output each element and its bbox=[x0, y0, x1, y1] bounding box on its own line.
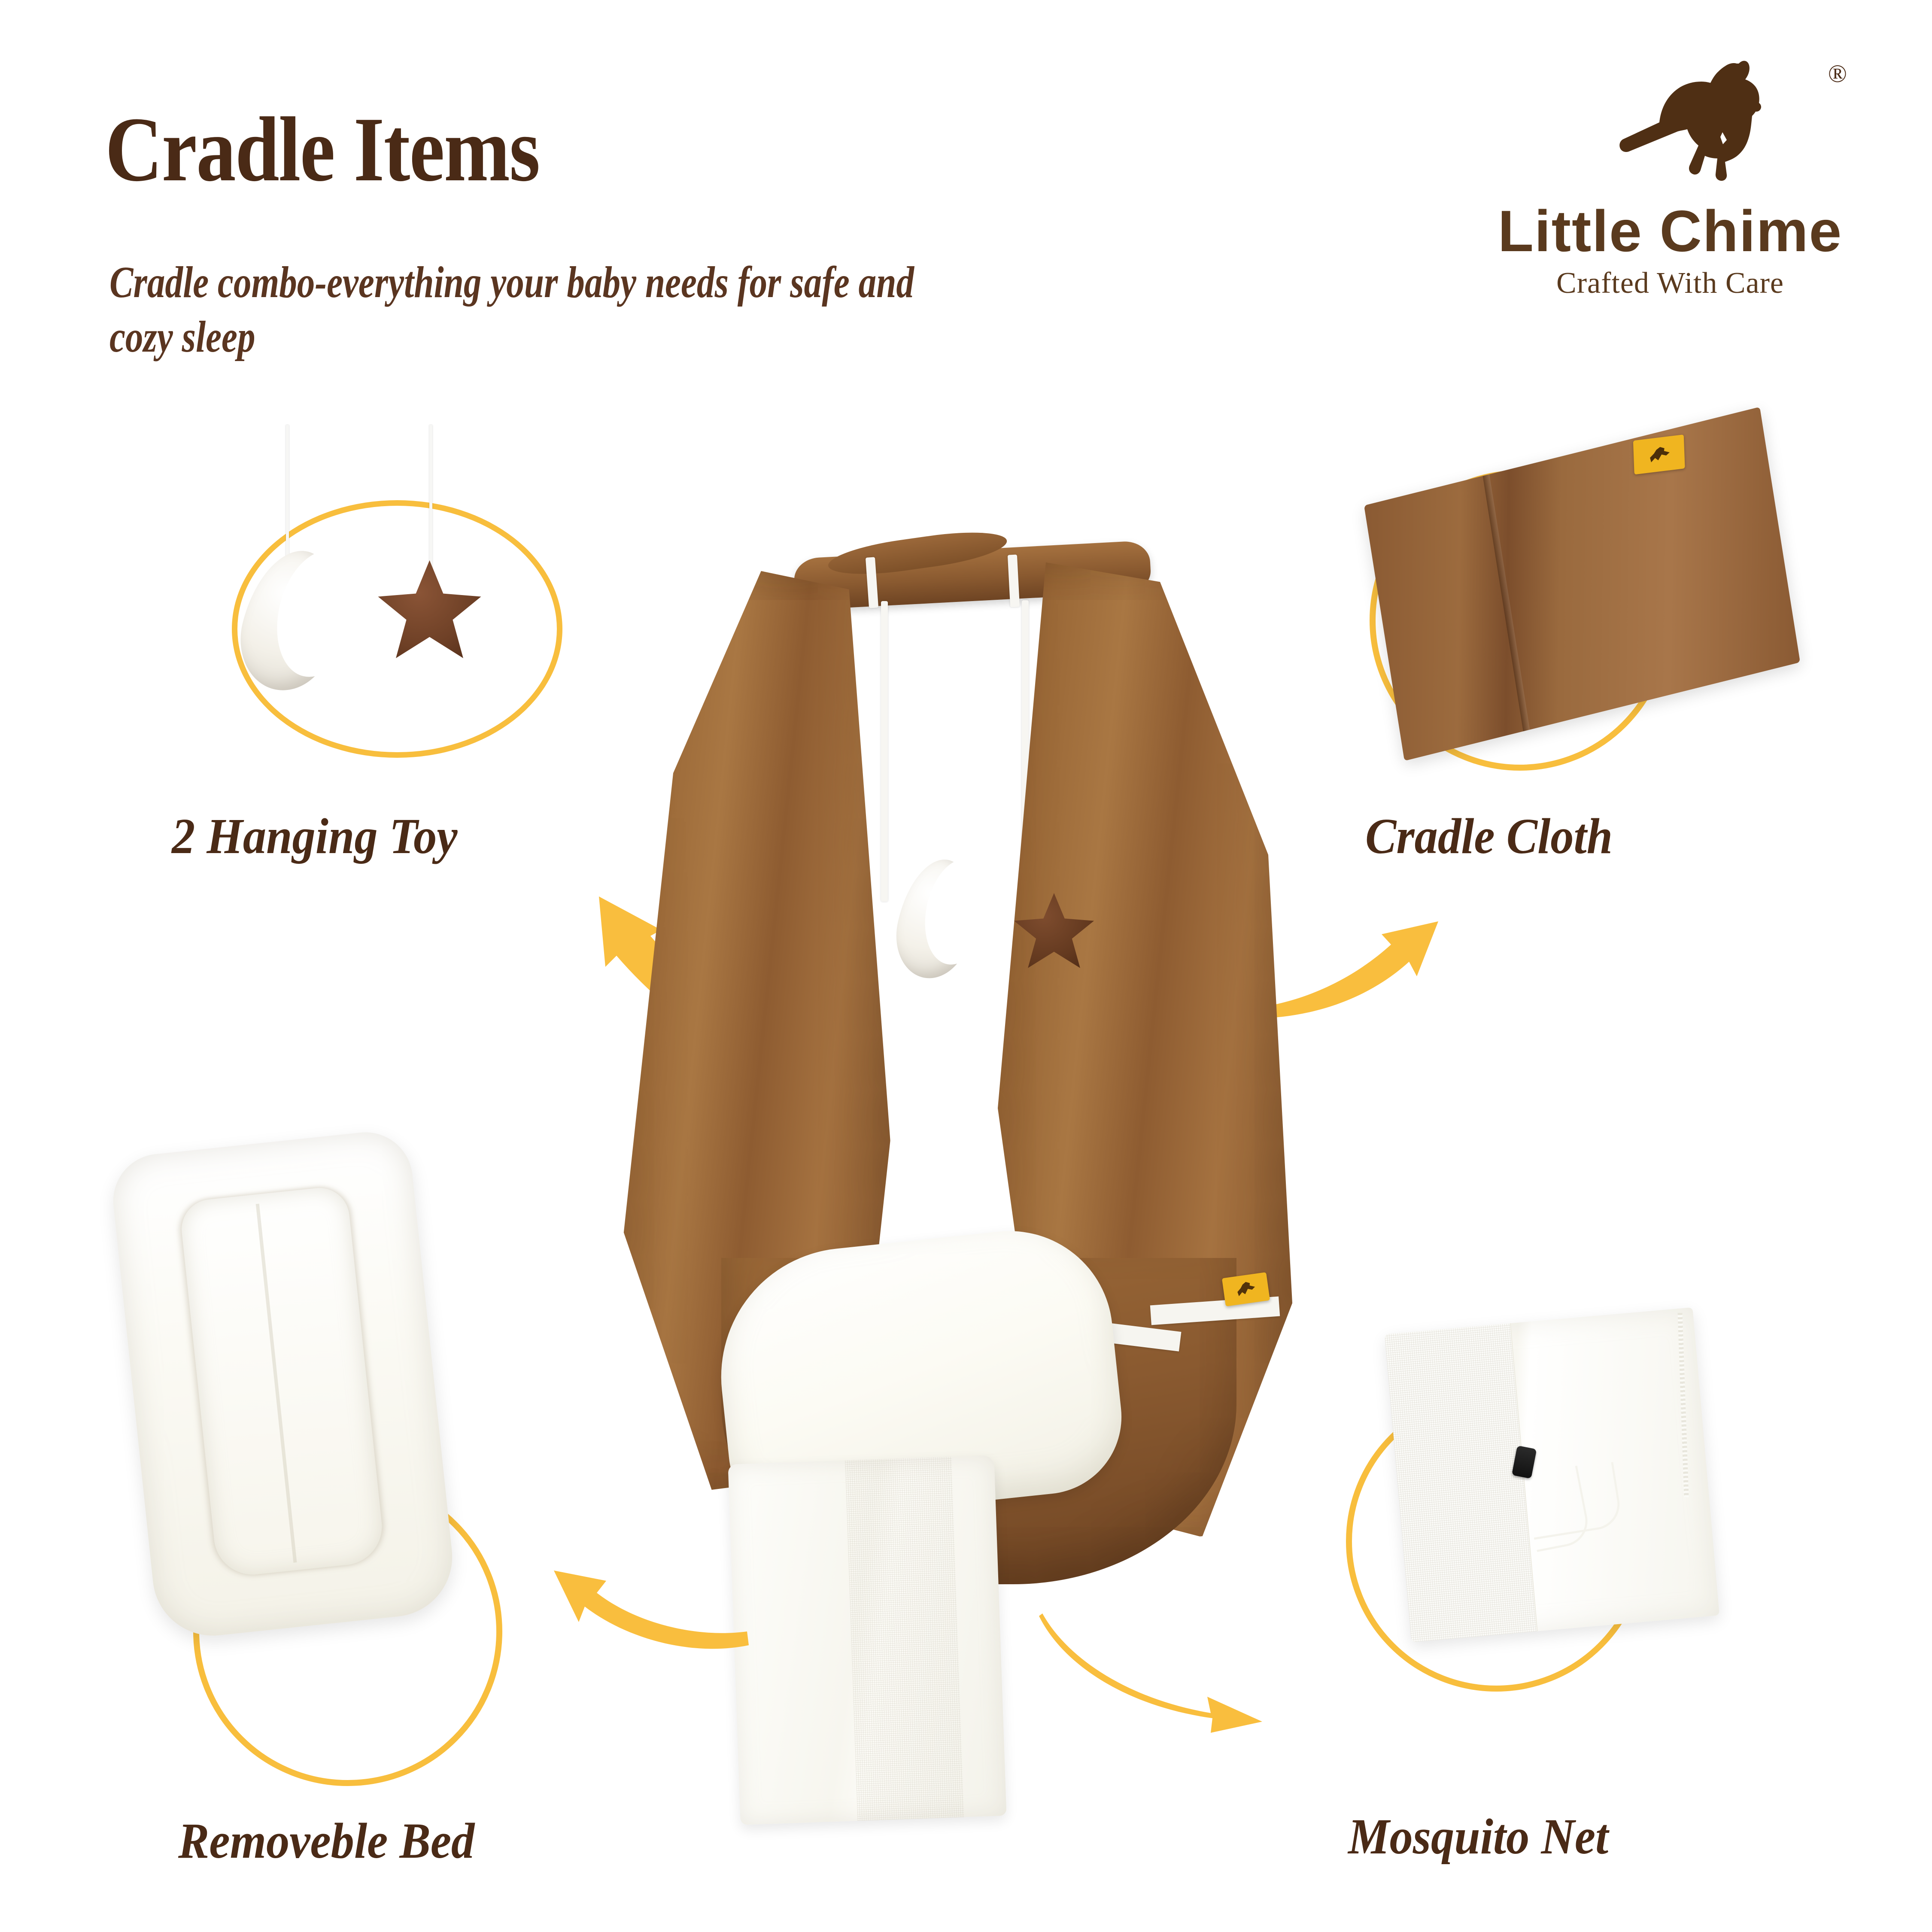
page-title: Cradle Items bbox=[105, 103, 539, 195]
item-label-cradle-cloth: Cradle Cloth bbox=[1365, 807, 1613, 866]
brand-tagline: Crafted With Care bbox=[1481, 266, 1859, 301]
cradle-mosquito-net-drop bbox=[728, 1455, 1007, 1825]
item-label-hanging-toy: 2 Hanging Toy bbox=[172, 807, 458, 866]
registered-trademark-icon: ® bbox=[1828, 59, 1847, 88]
removable-bed-photo bbox=[133, 1142, 434, 1627]
star-plush-toy bbox=[377, 560, 482, 661]
arrow-to-mosquito-net bbox=[1039, 1606, 1297, 1735]
net-drawstring bbox=[1524, 1462, 1623, 1540]
arrow-to-removable-bed bbox=[554, 1533, 751, 1644]
net-zipper-icon bbox=[1678, 1313, 1689, 1498]
moon-plush-toy bbox=[245, 550, 337, 691]
page-subtitle: Cradle combo-everything your baby needs … bbox=[109, 255, 968, 365]
cradle-moon-toy bbox=[888, 852, 984, 985]
brand-logo: ® Little Chime Crafted With Care bbox=[1481, 52, 1859, 335]
item-label-removable-bed: Removeble Bed bbox=[178, 1812, 474, 1870]
infographic-canvas: Cradle Items Cradle combo-everything you… bbox=[0, 0, 1932, 1932]
kangaroo-icon bbox=[1610, 52, 1795, 197]
net-mesh-panel bbox=[1385, 1323, 1538, 1642]
brand-name: Little Chime bbox=[1481, 197, 1859, 264]
item-label-mosquito-net: Mosquito Net bbox=[1348, 1807, 1608, 1866]
toy-hanging-strap bbox=[881, 601, 888, 902]
mosquito-net-photo bbox=[1397, 1320, 1707, 1629]
cradle-cloth-photo bbox=[1378, 455, 1786, 713]
brand-tag-icon bbox=[1633, 434, 1685, 474]
